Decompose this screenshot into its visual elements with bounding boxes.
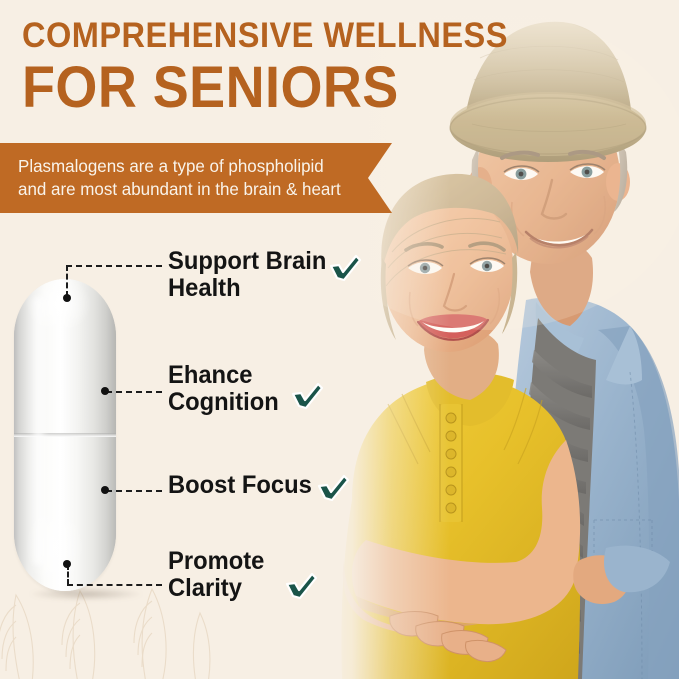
benefit-4-line-1: Promote: [168, 548, 264, 575]
benefit-2-line-2: Cognition: [168, 389, 279, 416]
benefit-1-line-1: Support Brain: [168, 248, 326, 275]
check-icon: [290, 382, 324, 415]
benefit-item-4: Promote Clarity: [168, 548, 269, 601]
info-ribbon-banner: Plasmalogens are a type of phospholipid …: [0, 143, 392, 213]
headline-line-2: FOR SENIORS: [22, 59, 508, 117]
benefit-3-line-1: Boost Focus: [168, 472, 312, 499]
check-icon: [328, 254, 362, 287]
headline-block: COMPREHENSIVE WELLNESS FOR SENIORS: [22, 18, 544, 117]
check-icon: [284, 572, 318, 605]
capsule-shadow: [6, 585, 166, 603]
poster-canvas: COMPREHENSIVE WELLNESS FOR SENIORS Plasm…: [0, 0, 679, 679]
benefit-4-line-2: Clarity: [168, 575, 264, 602]
ribbon-line-1: Plasmalogens are a type of phospholipid: [18, 155, 348, 178]
benefit-item-2: Ehance Cognition: [168, 362, 285, 415]
capsule-icon: [14, 279, 116, 591]
benefit-1-line-2: Health: [168, 275, 326, 302]
capsule-highlight: [30, 297, 47, 565]
headline-line-1: COMPREHENSIVE WELLNESS: [22, 18, 508, 53]
check-icon: [316, 474, 350, 507]
benefit-item-1: Support Brain Health: [168, 248, 335, 301]
ribbon-line-2: and are most abundant in the brain & hea…: [18, 178, 348, 201]
benefit-item-3: Boost Focus: [168, 472, 319, 499]
benefit-2-line-1: Ehance: [168, 362, 279, 389]
